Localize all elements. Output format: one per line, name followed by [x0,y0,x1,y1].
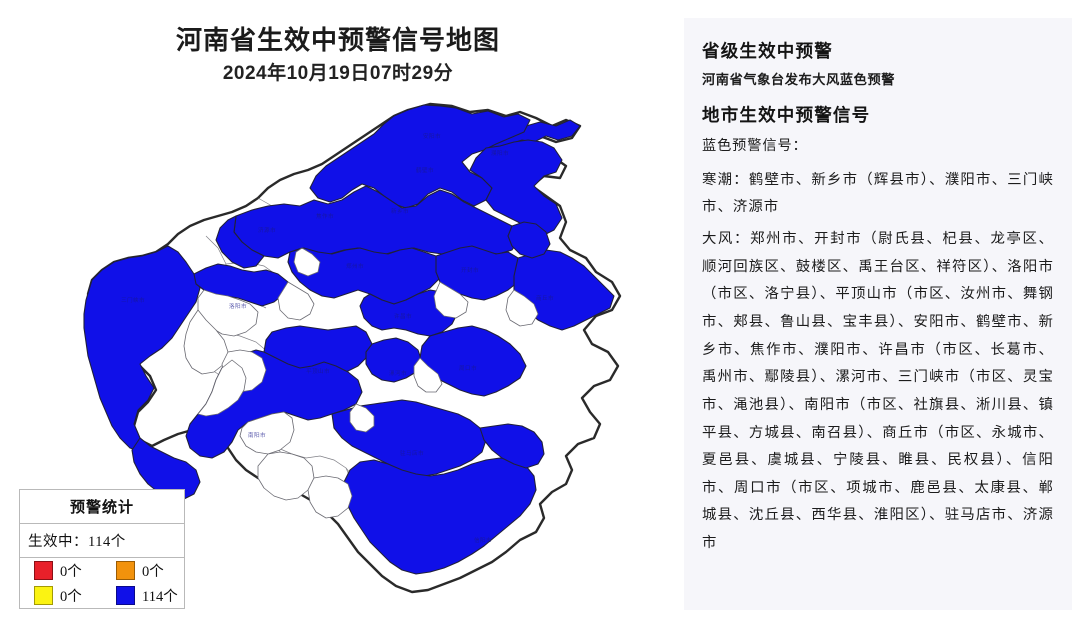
legend-item-red[interactable]: 0个 [20,560,102,581]
legend-active-label: 生效中： [28,534,88,550]
legend-box: 预警统计 生效中：114个 0个 0个 0个 [19,489,185,609]
red-alert-count: 0个 [60,560,82,581]
blue-alert-count: 114个 [142,585,178,606]
warning-detail-panel: 省级生效中预警 河南省气象台发布大风蓝色预警 地市生效中预警信号 蓝色预警信号：… [676,0,1080,637]
page-title: 河南省生效中预警信号地图 [0,26,676,57]
legend-title: 预警统计 [20,490,184,524]
orange-alert-count: 0个 [142,560,164,581]
province-warning-heading: 省级生效中预警 [702,38,1054,64]
map-title-block: 河南省生效中预警信号地图 2024年10月19日07时29分 [0,26,676,88]
legend-row-yellow-blue: 0个 114个 [20,583,184,608]
cold-wave-list: 寒潮：鹤壁市、新乡市（辉县市）、濮阳市、三门峡市、济源市 [702,167,1054,222]
map-timestamp: 2024年10月19日07时29分 [0,60,676,89]
blue-alert-swatch-icon [116,586,135,605]
gale-list: 大风：郑州市、开封市（尉氏县、杞县、龙亭区、顺河回族区、鼓楼区、禹王台区、祥符区… [702,226,1054,558]
orange-alert-swatch-icon [116,561,135,580]
yellow-alert-count: 0个 [60,585,82,606]
legend-item-orange[interactable]: 0个 [102,560,184,581]
yellow-alert-swatch-icon [34,586,53,605]
red-alert-swatch-icon [34,561,53,580]
blue-signal-label: 蓝色预警信号： [702,136,1054,157]
map-panel: 河南省生效中预警信号地图 2024年10月19日07时29分 [0,0,676,637]
city-warning-heading: 地市生效中预警信号 [702,102,1054,128]
legend-item-blue[interactable]: 114个 [102,585,184,606]
warning-detail-inner: 省级生效中预警 河南省气象台发布大风蓝色预警 地市生效中预警信号 蓝色预警信号：… [684,18,1072,610]
legend-active-total: 生效中：114个 [20,524,184,558]
legend-row-red-orange: 0个 0个 [20,558,184,583]
legend-active-count: 114个 [88,534,126,550]
legend-item-yellow[interactable]: 0个 [20,585,102,606]
province-warning-detail: 河南省气象台发布大风蓝色预警 [702,70,1054,90]
page-root: 河南省生效中预警信号地图 2024年10月19日07时29分 [0,0,1080,637]
